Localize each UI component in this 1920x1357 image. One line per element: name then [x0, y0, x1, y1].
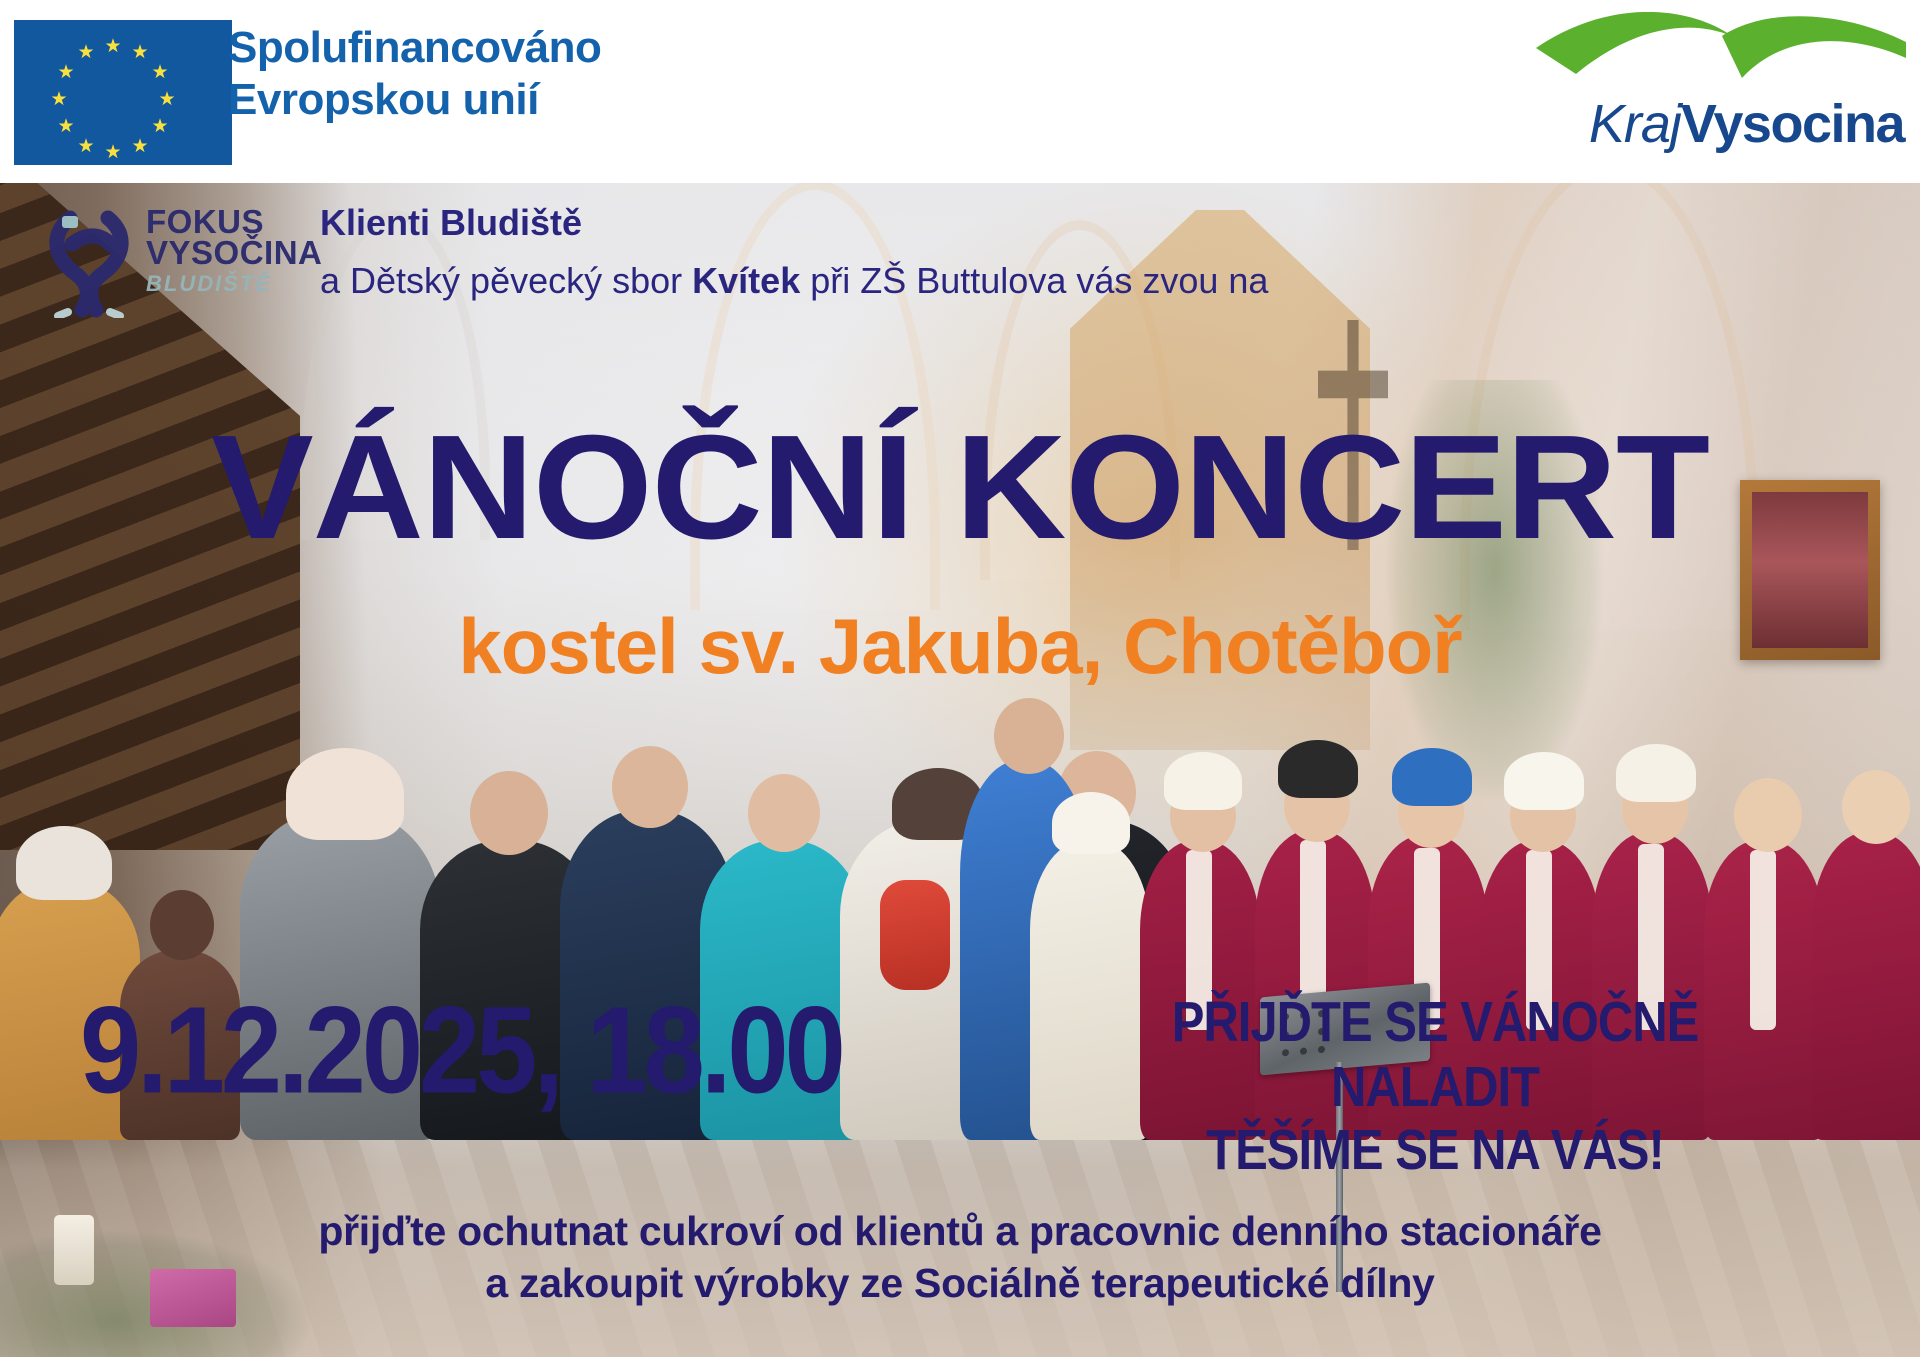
red-mitten [880, 880, 950, 990]
fokus-line-2: VYSOČINA [146, 237, 322, 268]
event-date-time: 9.12.2025, 18.00 [80, 985, 842, 1117]
kraj-word: Kraj [1589, 94, 1681, 154]
fokus-line-1: FOKUS [146, 206, 322, 237]
fokus-line-3: BLUDIŠTĚ [146, 271, 322, 297]
concert-poster: ★ ★ ★ ★ ★ ★ ★ ★ ★ ★ ★ ★ Spolufinancováno… [0, 0, 1920, 1357]
kraj-vysocina-wordmark: KrajVysocina [1589, 94, 1904, 154]
venue-subtitle: kostel sv. Jakuba, Chotěboř [0, 601, 1920, 691]
knot-figures-mark [42, 204, 142, 318]
vysocina-word: Vysocina [1681, 94, 1904, 154]
choir-name: Kvítek [692, 260, 800, 301]
european-union-flag: ★ ★ ★ ★ ★ ★ ★ ★ ★ ★ ★ ★ [14, 20, 232, 165]
callout-line-2: TĚŠÍME SE NA VÁS! [1070, 1118, 1800, 1183]
fokus-wordmark: FOKUS VYSOČINA BLUDIŠTĚ [146, 206, 322, 297]
kraj-vysocina-swoosh [1536, 12, 1906, 80]
footnote-block: přijďte ochutnat cukroví od klientů a pr… [0, 1205, 1920, 1309]
fokus-vysocina-bludiste-logo: FOKUS VYSOČINA BLUDIŠTĚ [42, 198, 302, 318]
page-title: VÁNOČNÍ KONCERT [0, 413, 1920, 563]
footnote-line-2: a zakoupit výrobky ze Sociálně terapeuti… [0, 1257, 1920, 1309]
invitation-line-1: Klienti Bludiště [320, 200, 1268, 246]
invitation-line-2-after: při ZŠ Buttulova vás zvou na [800, 260, 1268, 301]
invitation-line-2: a Dětský pěvecký sbor Kvítek při ZŠ Butt… [320, 254, 1268, 308]
invitation-line-2-before: a Dětský pěvecký sbor [320, 260, 692, 301]
eu-cofunding-text: Spolufinancováno Evropskou unií [228, 22, 601, 126]
callout-block: PŘIJĎTE SE VÁNOČNĚ NALADIT TĚŠÍME SE NA … [1070, 990, 1800, 1174]
eu-funding-bar: ★ ★ ★ ★ ★ ★ ★ ★ ★ ★ ★ ★ Spolufinancováno… [0, 0, 1920, 183]
invitation-block: Klienti Bludiště a Dětský pěvecký sbor K… [320, 200, 1268, 308]
kraj-vysocina-logo: KrajVysocina [1486, 8, 1906, 158]
footnote-line-1: přijďte ochutnat cukroví od klientů a pr… [0, 1205, 1920, 1257]
callout-line-1: PŘIJĎTE SE VÁNOČNĚ NALADIT [1070, 990, 1800, 1120]
